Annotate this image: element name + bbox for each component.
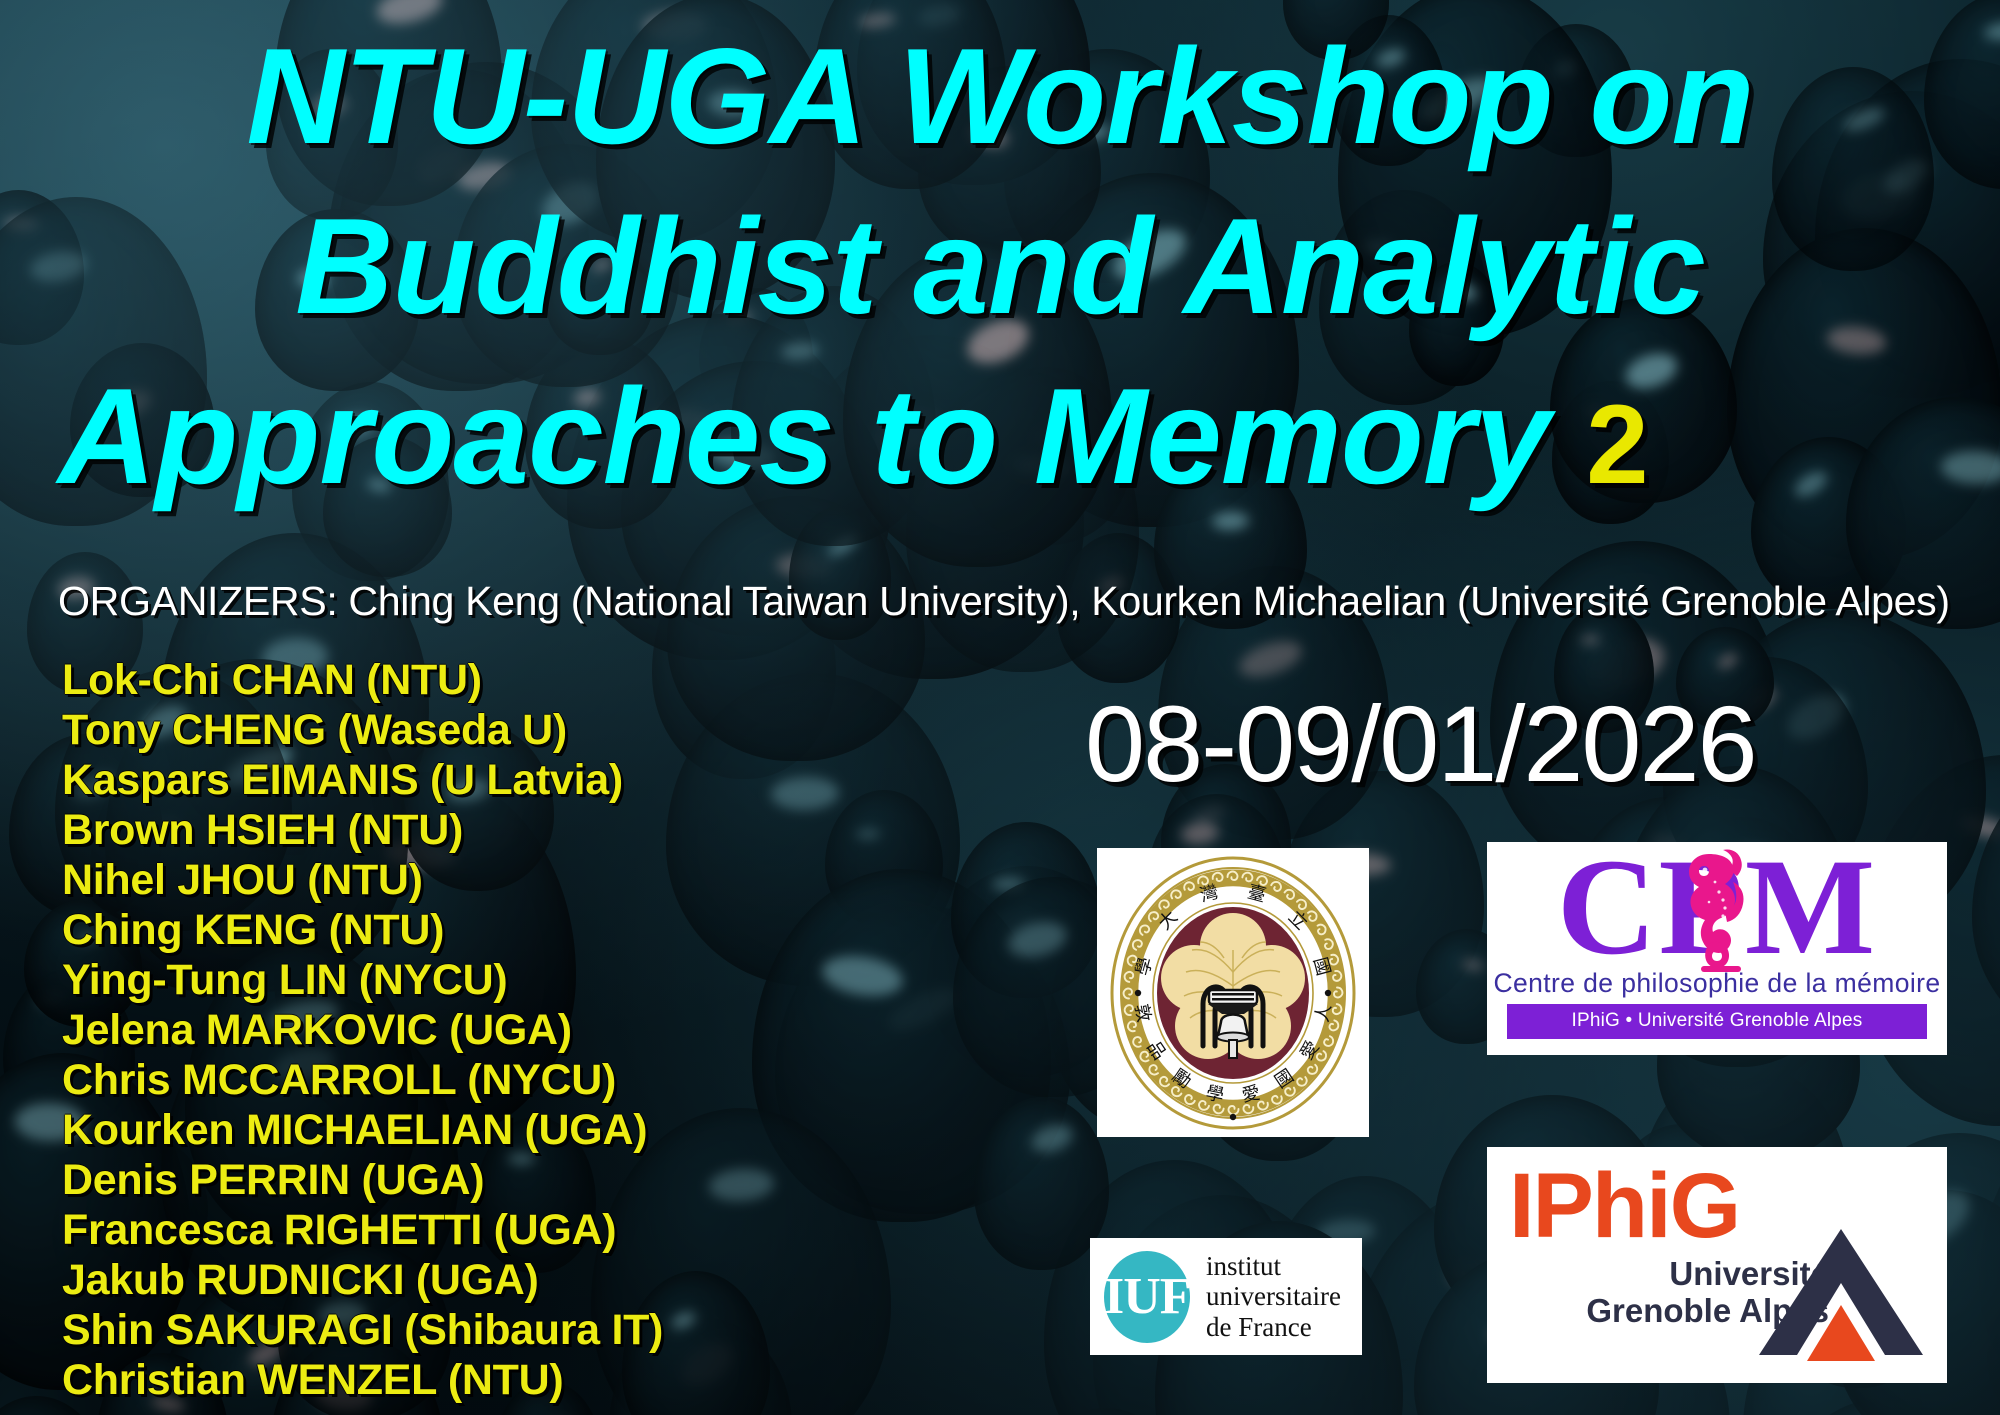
poster-title-line-3-text: Approaches to Memory: [58, 360, 1549, 512]
iuf-line-1: institut: [1206, 1251, 1341, 1281]
organizers-line: ORGANIZERS: Ching Keng (National Taiwan …: [58, 578, 1950, 625]
poster-title-line-3: Approaches to Memory 2: [0, 368, 2000, 504]
speaker-list-item: Shin SAKURAGI (Shibaura IT): [62, 1305, 663, 1355]
speaker-list-item: Kourken MICHAELIAN (UGA): [62, 1105, 663, 1155]
poster-edition-number: 2: [1586, 382, 1648, 507]
speaker-list-item: Francesca RIGHETTI (UGA): [62, 1205, 663, 1255]
speaker-list-item: Denis PERRIN (UGA): [62, 1155, 663, 1205]
speaker-list-item: Christian WENZEL (NTU): [62, 1355, 663, 1405]
ntu-seal-icon: 學大灣臺立國人愛國愛學勵品敦: [1108, 854, 1358, 1132]
iuf-wordmark: institut universitaire de France: [1206, 1251, 1341, 1342]
logo-cpm: CPM Centre de philosophie de la mémoire: [1487, 842, 1947, 1055]
logo-iuf: IUF institut universitaire de France: [1090, 1238, 1362, 1355]
iuf-line-3: de France: [1206, 1312, 1341, 1342]
event-date: 08-09/01/2026: [1085, 690, 1756, 798]
speaker-list-item: Kaspars EIMANIS (U Latvia): [62, 755, 663, 805]
iuf-line-2: universitaire: [1206, 1281, 1341, 1311]
speaker-list-item: Tony CHENG (Waseda U): [62, 705, 663, 755]
iuf-letters: IUF: [1104, 1271, 1190, 1323]
speaker-list-item: Ying-Tung LIN (NYCU): [62, 955, 663, 1005]
conference-poster: NTU-UGA Workshop on Buddhist and Analyti…: [0, 0, 2000, 1415]
logo-ntu: 學大灣臺立國人愛國愛學勵品敦: [1097, 848, 1369, 1137]
speaker-list-item: Jakub RUDNICKI (UGA): [62, 1255, 663, 1305]
speaker-list-item: Jelena MARKOVIC (UGA): [62, 1005, 663, 1055]
logo-iphig: IPhiG Université Grenoble Alpes: [1487, 1147, 1947, 1383]
poster-title-line-2: Buddhist and Analytic: [0, 198, 2000, 334]
speaker-list-item: Chris MCCARROLL (NYCU): [62, 1055, 663, 1105]
seahorse-icon: [1679, 848, 1765, 972]
speaker-list-item: Ching KENG (NTU): [62, 905, 663, 955]
uga-chevron-mountain-icon: [1757, 1225, 1925, 1367]
poster-title-line-1: NTU-UGA Workshop on: [0, 28, 2000, 164]
speaker-list-item: Nihel JHOU (NTU): [62, 855, 663, 905]
speaker-list-item: Lok-Chi CHAN (NTU): [62, 655, 663, 705]
speaker-list: Lok-Chi CHAN (NTU)Tony CHENG (Waseda U)K…: [62, 655, 663, 1405]
speaker-list-item: Brown HSIEH (NTU): [62, 805, 663, 855]
iuf-circle-mark: IUF: [1104, 1251, 1190, 1343]
cpm-wordmark: CPM: [1507, 846, 1927, 974]
cpm-affiliation-bar: IPhiG • Université Grenoble Alpes: [1507, 1004, 1927, 1039]
